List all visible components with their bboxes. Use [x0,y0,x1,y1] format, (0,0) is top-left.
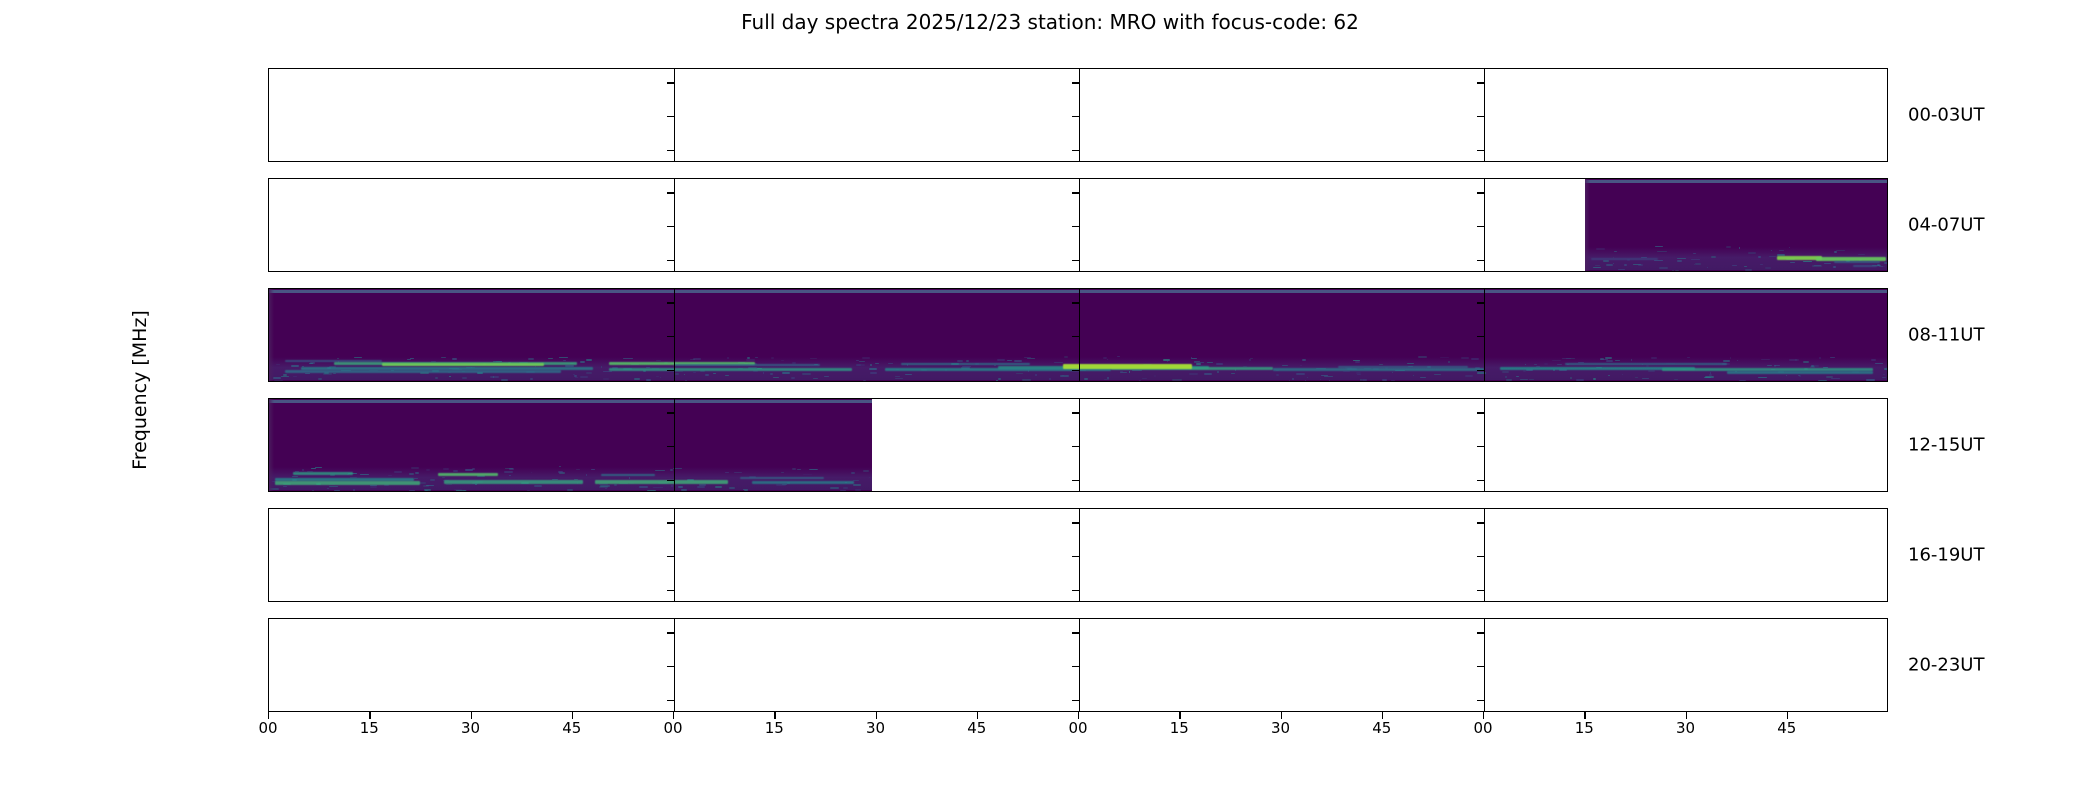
spectro-speckle [302,469,305,471]
y-tick-mark-inner [1477,260,1484,261]
spectro-speckle [1296,373,1305,375]
row-label-04-07ut: 04-07UT [1908,215,1984,236]
spectro-speckle [475,484,478,485]
spectro-speckle [1672,270,1674,271]
spectro-speckle [330,474,334,476]
y-tick-mark-inner [1477,666,1484,667]
x-tick-mark [268,712,269,719]
x-tick-label: 30 [1676,721,1695,736]
spectro-speckle [1677,260,1682,262]
spectro-speckle [337,358,338,359]
spectro-speckle [1300,365,1302,366]
spectro-speckle [586,359,592,361]
y-tick-mark-inner [1477,556,1484,557]
spectro-speckle [446,484,452,485]
y-tick-mark-inner [1072,150,1079,151]
spectro-speckle [1357,374,1362,375]
y-tick-mark-inner [667,370,674,371]
y-tick-mark-inner [1477,370,1484,371]
page-title: Full day spectra 2025/12/23 station: MRO… [0,10,2100,34]
spectro-speckle [725,472,729,473]
y-tick-mark-inner [667,480,674,481]
spectro-speckle [1562,358,1571,359]
spectro-speckle [872,482,873,484]
spectro-speckle [1062,375,1064,376]
spectrogram-image [1585,179,1888,271]
spectro-speckle [705,374,709,376]
spectro-speckle [274,380,284,381]
y-tick-mark-inner [667,226,674,227]
spectro-speckle [269,488,278,490]
spectro-speckle [1687,357,1690,358]
spectro-speckle [1355,361,1360,363]
spectro-speckle [1434,374,1441,375]
y-tick-mark: 75 [268,480,269,481]
spectro-speckle [727,357,729,359]
spectro-speckle [1465,375,1473,377]
spectro-speckle [1818,380,1827,381]
spectro-speckle [1642,378,1649,379]
x-tick-label: 00 [663,721,682,736]
x-tick-label: 45 [1777,721,1796,736]
hour-separator [674,179,675,271]
y-tick-mark: 50 [268,336,269,337]
y-tick-mark-inner [1072,412,1079,413]
spectro-speckle [1618,269,1625,270]
spectrogram-row-08-11ut: 755025 [268,288,1888,382]
hour-separator [674,399,675,491]
spectro-speckle [1606,360,1613,362]
spectro-speckle [862,357,870,359]
y-tick-mark: 25 [268,632,269,633]
x-tick-label: 15 [765,721,784,736]
hour-separator [1484,289,1485,381]
y-tick-mark-inner [1477,632,1484,633]
spectro-speckle [639,486,648,488]
spectro-speckle [1249,359,1250,361]
hour-separator [1484,509,1485,601]
emission-streak [1853,265,1877,267]
y-tick-mark-inner [1477,522,1484,523]
y-tick-mark-inner [667,666,674,667]
spectro-speckle [1758,377,1767,378]
spectro-speckle [1789,359,1796,361]
x-tick-mark [1686,712,1687,719]
x-tick-mark [369,712,370,719]
spectro-speckle [409,490,415,491]
y-tick-mark: 50 [268,226,269,227]
spectro-speckle [1875,363,1883,364]
spectro-speckle [283,486,288,487]
y-tick-mark-inner [1477,480,1484,481]
emission-streak [1565,363,1727,365]
spectro-speckle [743,489,747,490]
spectro-speckle [1523,370,1526,372]
spectro-speckle [681,489,687,491]
y-tick-mark-inner [1477,150,1484,151]
x-tick-label: 45 [1372,721,1391,736]
spectro-speckle [501,379,508,381]
hour-separator [1079,69,1080,161]
spectro-speckle [435,377,438,379]
y-tick-mark-inner [667,700,674,701]
hour-separator [1079,289,1080,381]
spectro-speckle [634,378,640,380]
spectro-speckle [414,478,417,479]
spectro-speckle [1191,358,1197,359]
spectro-speckle [1711,256,1717,258]
spectro-speckle [888,363,894,364]
spectro-speckle [1767,365,1772,366]
x-tick-mark [876,712,877,719]
spectro-speckle [1723,360,1730,362]
spectro-speckle [1593,378,1595,380]
spectro-speckle [715,486,722,488]
spectro-speckle [426,469,430,471]
spectro-speckle [530,378,534,380]
spectro-speckle [1790,262,1795,263]
x-tick-label: 15 [1575,721,1594,736]
y-tick-mark-inner [1477,590,1484,591]
emission-streak [1834,261,1880,263]
spectro-speckle [1882,377,1887,378]
spectro-speckle [1614,251,1617,252]
row-label-08-11ut: 08-11UT [1908,325,1984,346]
y-tick-mark-inner [1477,82,1484,83]
spectro-speckle [853,484,861,486]
y-tick-mark-inner [1072,446,1079,447]
spectro-speckle [1886,367,1888,369]
emission-streak [1273,368,1484,371]
spectro-speckle [1552,360,1561,361]
row-label-00-03ut: 00-03UT [1908,105,1984,126]
y-tick-mark-inner [1072,666,1079,667]
y-axis-label: Frequency [MHz] [129,310,151,470]
spectro-speckle [1883,374,1885,375]
spectro-speckle [1693,253,1696,254]
y-tick-mark-inner [1072,336,1079,337]
spectro-speckle [1761,359,1769,360]
spectro-speckle [1035,374,1037,376]
x-tick-mark [572,712,573,719]
spectro-speckle [1379,364,1383,365]
y-tick-mark: 25 [268,82,269,83]
spectro-speckle [1774,365,1776,367]
spectro-speckle [813,378,818,379]
emission-streak [674,364,820,366]
x-tick-label: 15 [1170,721,1189,736]
hour-separator [1079,619,1080,711]
spectro-speckle [1596,248,1605,250]
spectro-speckle [1654,260,1663,261]
spectro-speckle [1709,374,1712,376]
emission-streak [275,481,420,485]
y-tick-mark: 25 [268,522,269,523]
hour-separator [1079,509,1080,601]
x-tick-mark [1584,712,1585,719]
y-tick-mark-inner [1072,590,1079,591]
emission-streak [293,472,353,475]
spectro-speckle [1737,360,1738,361]
spectro-speckle [1320,379,1321,380]
spectro-speckle [1516,376,1520,377]
spectro-speckle [782,372,790,374]
spectro-speckle [693,358,701,360]
spectro-speckle [895,378,903,379]
spectro-speckle [966,360,969,362]
spectro-speckle [312,490,314,491]
spectro-speckle [994,365,996,366]
spectro-speckle [863,380,866,381]
spectro-speckle [699,484,706,486]
spectro-speckle [1520,379,1528,380]
emission-streak [382,363,544,366]
spectro-speckle [1305,380,1307,381]
spectro-speckle [1819,357,1821,359]
emission-streak [1063,364,1193,369]
hour-separator [674,69,675,161]
emission-streak [444,480,583,484]
spectro-speckle [655,470,665,471]
hour-separator [1484,399,1485,491]
hour-separator [674,619,675,711]
spectro-speckle [443,468,449,470]
spectro-speckle [1216,363,1223,365]
spectro-speckle [1007,360,1013,361]
hour-separator [674,509,675,601]
spectro-speckle [1622,374,1623,375]
y-tick-mark-inner [667,632,674,633]
spectro-speckle [869,368,877,370]
y-tick-mark-inner [667,260,674,261]
spectro-speckle [1382,379,1387,381]
spectro-speckle [504,471,513,473]
x-tick-label: 45 [967,721,986,736]
spectro-speckle [840,490,846,491]
y-tick-mark-inner [667,446,674,447]
emission-streak [740,477,824,479]
spectro-speckle [1250,358,1252,359]
spectro-speckle [1217,371,1219,373]
y-tick-mark-inner [1477,412,1484,413]
spectro-speckle [1329,380,1331,381]
y-tick-mark-inner [1072,260,1079,261]
y-tick-mark-inner [667,192,674,193]
spectro-speckle [734,472,742,473]
y-tick-mark-inner [667,556,674,557]
emission-streak [752,481,855,484]
spectro-speckle [685,380,687,381]
spectro-speckle [1758,256,1761,258]
spectro-speckle [548,358,553,359]
spectro-speckle [1196,363,1201,365]
hour-separator [1484,69,1485,161]
spectro-speckle [567,489,572,491]
spectro-speckle [1360,379,1362,381]
emission-streak [285,370,560,373]
x-tick-mark [977,712,978,719]
spectro-speckle [318,378,322,380]
y-tick-mark: 75 [268,590,269,591]
y-tick-mark-inner [1072,556,1079,557]
spectro-speckle [1461,357,1469,359]
spectro-speckle [425,490,428,491]
spectro-speckle [1362,379,1367,381]
spectro-speckle [1022,379,1031,381]
spectro-speckle [409,473,414,475]
emission-streak [1591,258,1658,260]
spectro-speckle [744,490,748,491]
y-tick-mark-inner [667,412,674,413]
spectro-speckle [843,487,848,489]
spectro-speckle [1745,269,1752,271]
x-tick-mark [1078,712,1079,719]
spectro-speckle [370,486,377,488]
spectro-speckle [1502,371,1509,373]
y-tick-mark-inner [1477,336,1484,337]
row-label-12-15ut: 12-15UT [1908,435,1984,456]
spectro-speckle [856,360,859,361]
spectro-speckle [1765,267,1770,269]
spectro-speckle [656,376,659,377]
x-tick-mark [471,712,472,719]
y-tick-mark-inner [667,590,674,591]
spectro-speckle [291,365,298,367]
y-tick-mark-inner [1477,700,1484,701]
spectro-speckle [334,490,341,491]
spectro-speckle [1471,358,1479,360]
x-tick-mark [1382,712,1383,719]
spectro-speckle [647,490,656,491]
y-tick-mark-inner [667,116,674,117]
spectro-speckle [415,472,420,474]
spectro-speckle [1132,370,1142,371]
x-tick-mark [1281,712,1282,719]
y-tick-mark-inner [667,522,674,523]
spectro-speckle [998,378,1001,380]
spectrogram-image [269,399,872,491]
x-tick-label: 30 [1271,721,1290,736]
y-tick-mark: 25 [268,412,269,413]
row-label-16-19ut: 16-19UT [1908,545,1984,566]
emission-streak [438,473,498,476]
spectro-speckle [771,357,774,359]
y-tick-mark-inner [1477,192,1484,193]
x-tick-label: 30 [461,721,480,736]
y-tick-mark: 25 [268,192,269,193]
spectrogram-row-16-19ut: 755025 [268,508,1888,602]
spectro-speckle [1544,363,1548,365]
spectro-speckle [603,378,610,380]
spectro-speckle [527,490,530,491]
spectro-speckle [558,471,563,473]
spectro-speckle [1866,379,1875,381]
y-tick-mark-inner [1477,302,1484,303]
spectro-speckle [1836,250,1844,251]
y-tick-mark-inner [667,150,674,151]
emission-streak [609,368,852,371]
spectro-speckle [1014,360,1023,362]
spectro-speckle [1324,376,1333,377]
spectro-speckle [1732,265,1737,266]
spectro-speckle [1595,265,1599,266]
y-tick-mark: 50 [268,116,269,117]
hour-separator [1079,399,1080,491]
y-tick-mark-inner [1072,522,1079,523]
spectro-speckle [1674,379,1678,380]
spectro-speckle [411,467,419,469]
spectro-speckle [360,474,369,475]
hour-separator [1484,619,1485,711]
spectro-speckle [1276,374,1279,376]
spectro-speckle [534,485,542,487]
spectro-speckle [824,376,830,377]
y-tick-mark-inner [1477,226,1484,227]
spectro-speckle [329,486,339,487]
spectro-speckle [1027,358,1035,359]
spectro-speckle [601,366,603,368]
spectro-speckle [1529,379,1534,380]
spectro-speckle [810,358,818,359]
y-tick-mark-inner [1072,632,1079,633]
x-tick-label: 15 [360,721,379,736]
spectro-speckle [623,358,633,359]
spectro-speckle [442,477,445,478]
spectro-speckle [1744,266,1747,267]
spectro-speckle [856,364,865,366]
x-axis: 00153045001530450015304500153045 [268,712,1888,752]
y-tick-mark: 50 [268,446,269,447]
spectro-speckle [763,372,764,374]
spectro-speckle [1154,375,1156,377]
spectro-speckle [1675,270,1679,271]
spectro-speckle [962,366,972,367]
y-tick-mark-inner [1072,480,1079,481]
spectro-speckle [1084,378,1088,380]
x-tick-label: 45 [562,721,581,736]
spectro-speckle [1691,259,1700,260]
spectro-speckle [729,487,734,489]
spectro-speckle [1054,362,1063,363]
spectro-speckle [830,487,838,489]
spectro-speckle [505,468,513,469]
spectrogram-row-00-03ut: 755025 [268,68,1888,162]
spectro-speckle [586,372,592,374]
y-tick-mark-inner [1072,116,1079,117]
x-tick-mark [1179,712,1180,719]
spectro-speckle [465,469,472,471]
y-tick-mark-inner [667,336,674,337]
spectro-speckle [996,380,998,381]
y-tick-mark: 75 [268,700,269,701]
spectro-speckle [490,376,499,378]
y-tick-mark-inner [1477,116,1484,117]
emission-streak [901,363,1031,365]
y-tick-mark: 75 [268,370,269,371]
spectro-speckle [855,489,861,491]
y-tick-mark-inner [1072,700,1079,701]
spectro-speckle [1834,251,1837,253]
spectro-speckle [1739,380,1747,381]
spectro-speckle [1292,378,1294,380]
y-tick-mark: 50 [268,556,269,557]
spectro-speckle [776,484,786,486]
y-tick-mark: 75 [268,150,269,151]
x-tick-mark [673,712,674,719]
spectro-speckle [1695,263,1701,265]
spectro-speckle [1440,357,1449,358]
spectro-speckle [1858,254,1865,255]
